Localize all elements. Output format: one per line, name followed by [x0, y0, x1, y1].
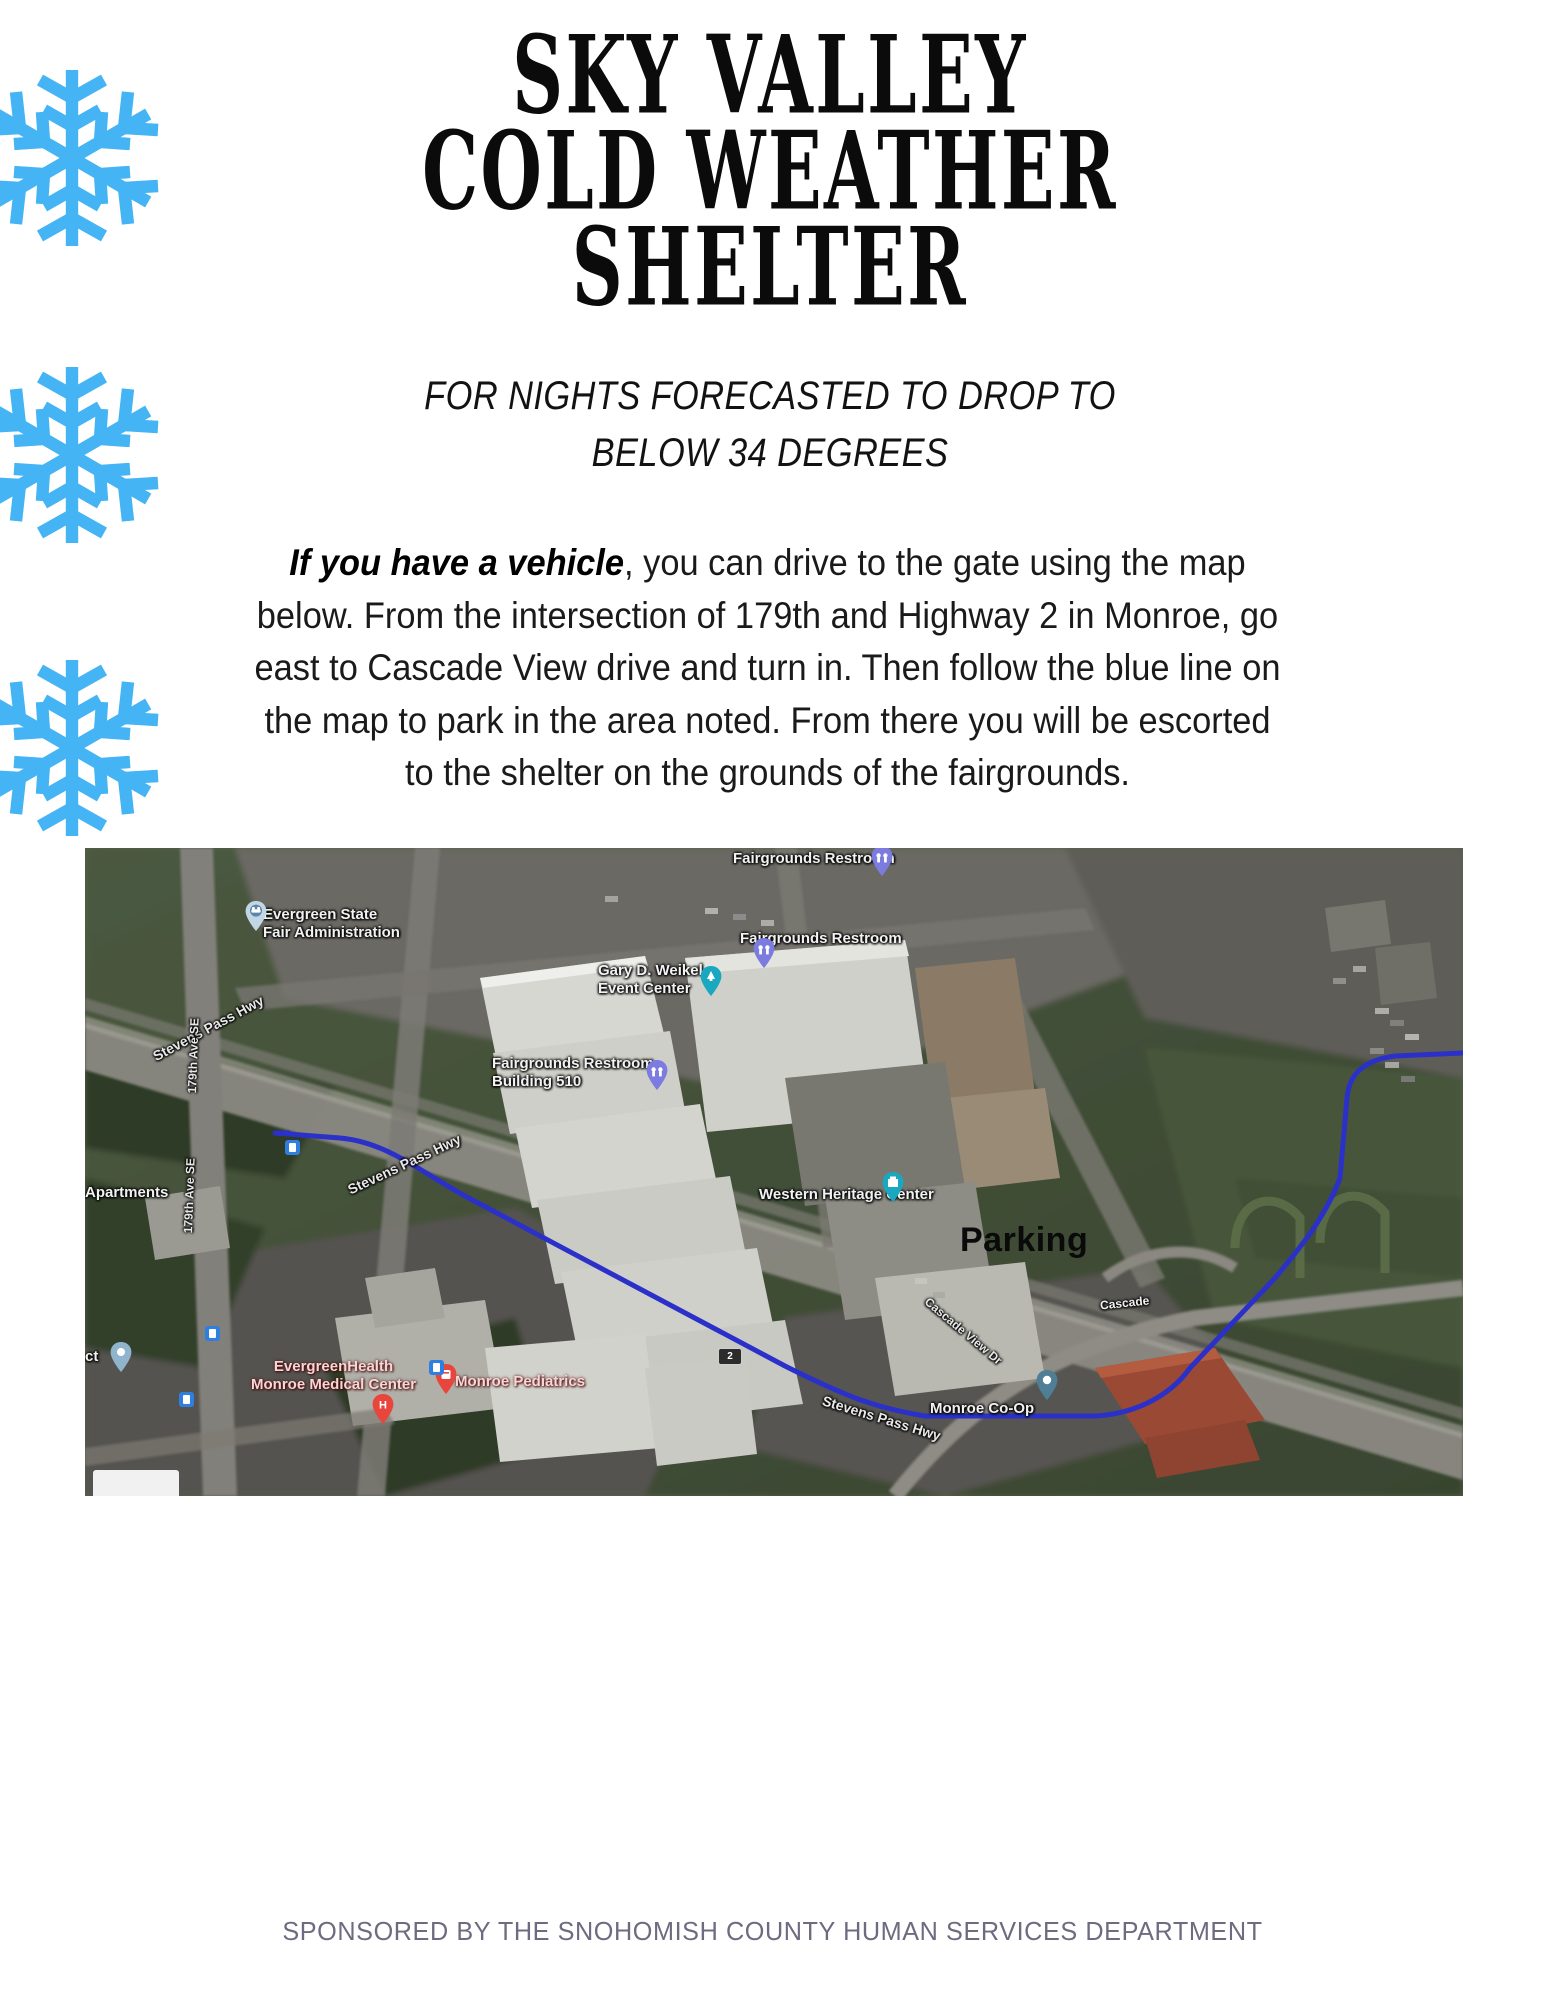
page-title: SKY VALLEY COLD WEATHER SHELTER [230, 22, 1310, 311]
highway-shield-icon: 2 [718, 1348, 742, 1365]
instructions-paragraph: If you have a vehicle, you can drive to … [254, 537, 1282, 800]
sponsor-footer: SPONSORED BY THE SNOHOMISH COUNTY HUMAN … [23, 1916, 1522, 1947]
subtitle-line-2: BELOW 34 DEGREES [301, 425, 1238, 482]
transit-stop-icon [179, 1392, 194, 1407]
map-image[interactable]: Fairgrounds Restroom Evergreen State Fai… [85, 848, 1463, 1496]
map-satellite-canvas [85, 848, 1463, 1496]
snowflake-icon-top [0, 58, 182, 258]
map-attribution-card [93, 1470, 179, 1496]
instructions-lead: If you have a vehicle [289, 542, 624, 583]
transit-stop-icon [285, 1140, 300, 1155]
snowflake-icon-bottom [0, 648, 182, 848]
snowflake-icon-middle [0, 355, 182, 555]
subtitle-line-1: FOR NIGHTS FORECASTED TO DROP TO [301, 368, 1238, 425]
transit-stop-icon [429, 1360, 444, 1375]
transit-stop-icon [205, 1326, 220, 1341]
title-line-3: SHELTER [338, 214, 1202, 319]
subtitle: FOR NIGHTS FORECASTED TO DROP TO BELOW 3… [301, 368, 1238, 482]
